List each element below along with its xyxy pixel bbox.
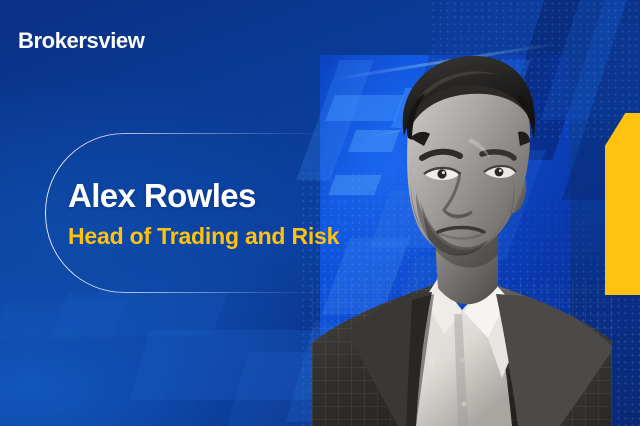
speaker-role: Head of Trading and Risk xyxy=(68,223,398,249)
background-slab-lower-5 xyxy=(0,300,128,338)
logo-text: Brokersview xyxy=(18,30,144,52)
background-slab-lower-4 xyxy=(52,292,228,336)
brokersview-logo[interactable]: Brokersview xyxy=(18,30,144,52)
speaker-text-block: Alex Rowles Head of Trading and Risk xyxy=(68,178,398,250)
speaker-name: Alex Rowles xyxy=(68,178,398,214)
speaker-announcement-banner: Brokersview Alex Rowles Head of Trading … xyxy=(0,0,640,426)
